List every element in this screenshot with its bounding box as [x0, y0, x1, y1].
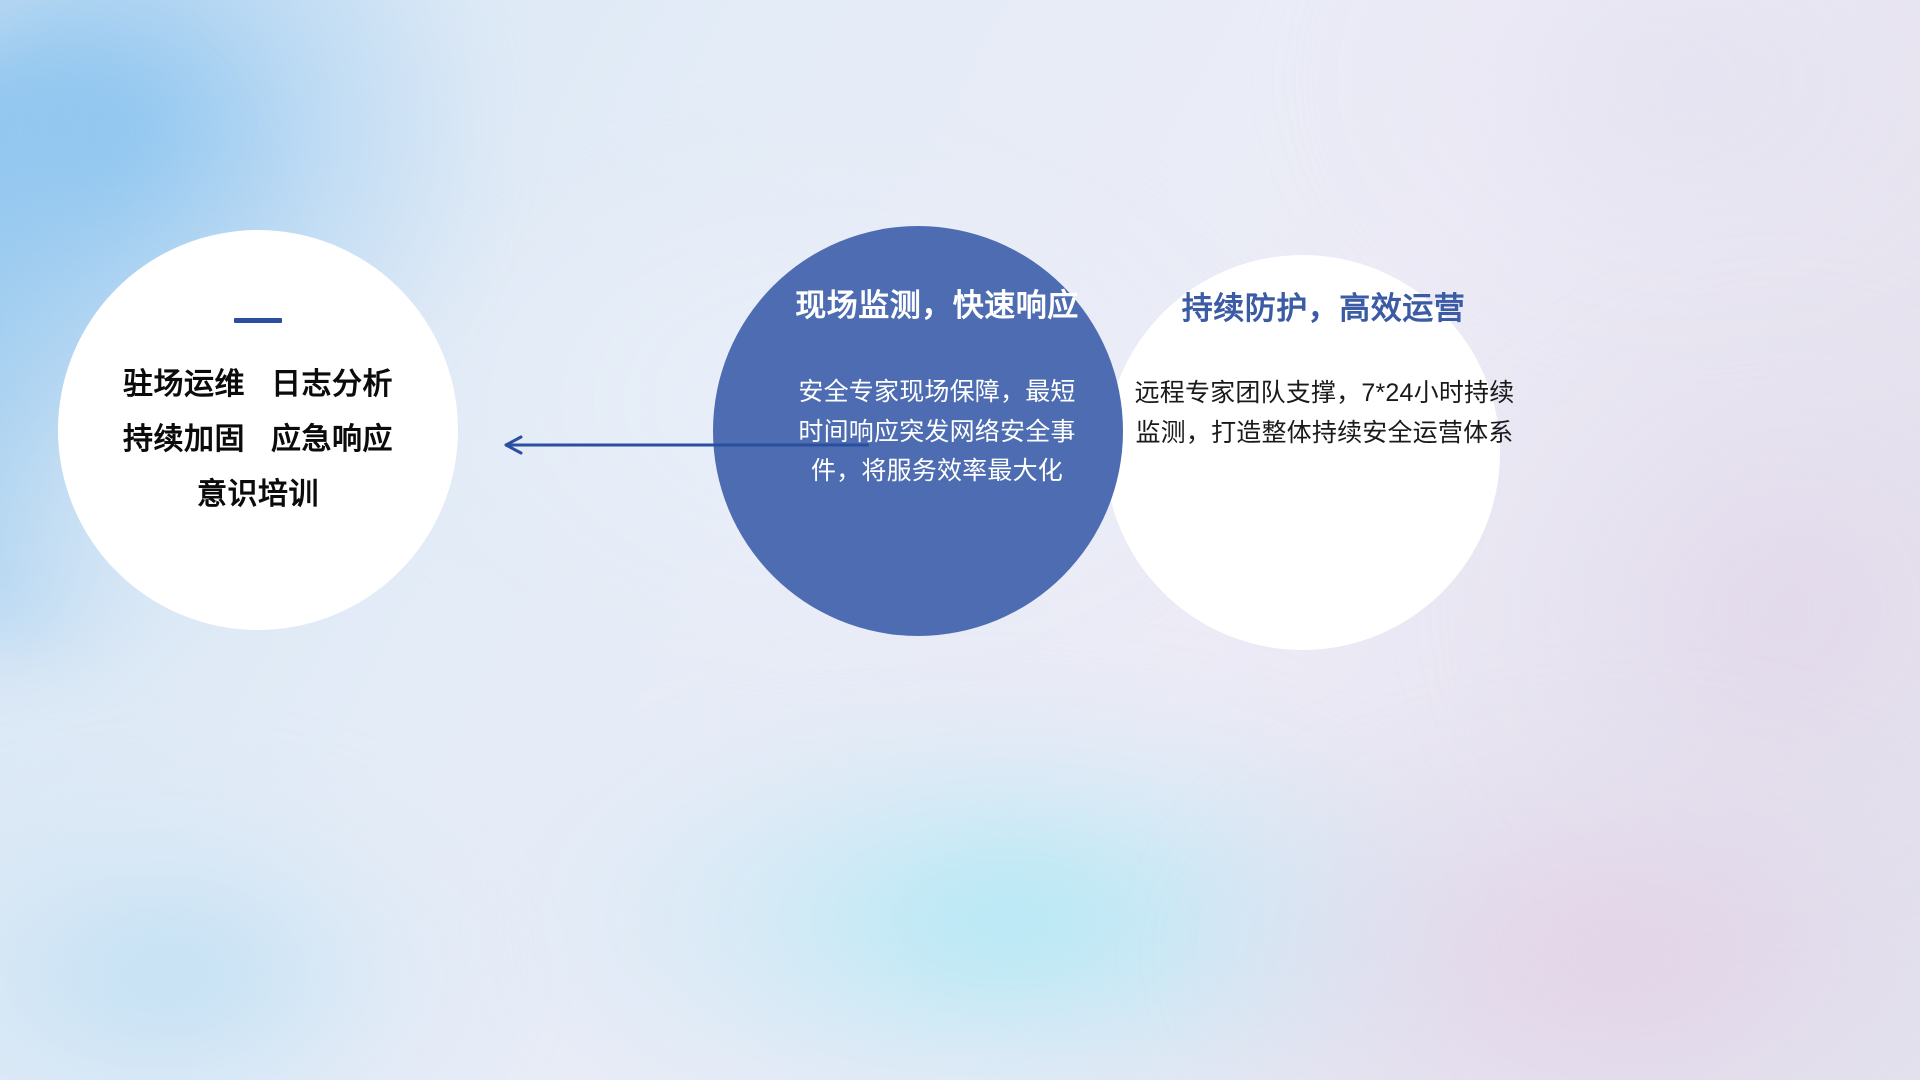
keyword-awareness-training: 意识培训: [197, 480, 319, 510]
left-keyword-row: 驻场运维日志分析: [123, 370, 393, 400]
middle-circle-body: 安全专家现场保障，最短时间响应突发网络安全事件，将服务效率最大化: [787, 373, 1087, 492]
keyword-emergency-response: 应急响应: [271, 425, 393, 455]
left-keyword-row: 意识培训: [197, 480, 319, 510]
right-circle-content: 持续防护，高效运营 远程专家团队支撑，7*24小时持续监测，打造整体持续安全运营…: [1105, 255, 1500, 650]
keyword-log-analysis: 日志分析: [271, 370, 393, 400]
right-circle-body: 远程专家团队支撑，7*24小时持续监测，打造整体持续安全运营体系: [1130, 374, 1520, 453]
keyword-onsite-ops: 驻场运维: [123, 370, 245, 400]
slide-canvas: 驻场运维日志分析 持续加固应急响应 意识培训 现场监测，快速响应 安全专家现场保…: [0, 0, 1920, 1080]
middle-circle-title: 现场监测，快速响应: [795, 290, 1079, 321]
right-circle-title: 持续防护，高效运营: [1182, 293, 1466, 324]
left-keyword-row: 持续加固应急响应: [123, 425, 393, 455]
left-circle-content: 驻场运维日志分析 持续加固应急响应 意识培训: [58, 230, 458, 630]
keyword-continuous-hardening: 持续加固: [123, 425, 245, 455]
middle-circle-content: 现场监测，快速响应 安全专家现场保障，最短时间响应突发网络安全事件，将服务效率最…: [713, 226, 1123, 636]
left-keyword-list: 驻场运维日志分析 持续加固应急响应 意识培训: [123, 370, 393, 510]
divider-dash: [234, 318, 282, 323]
